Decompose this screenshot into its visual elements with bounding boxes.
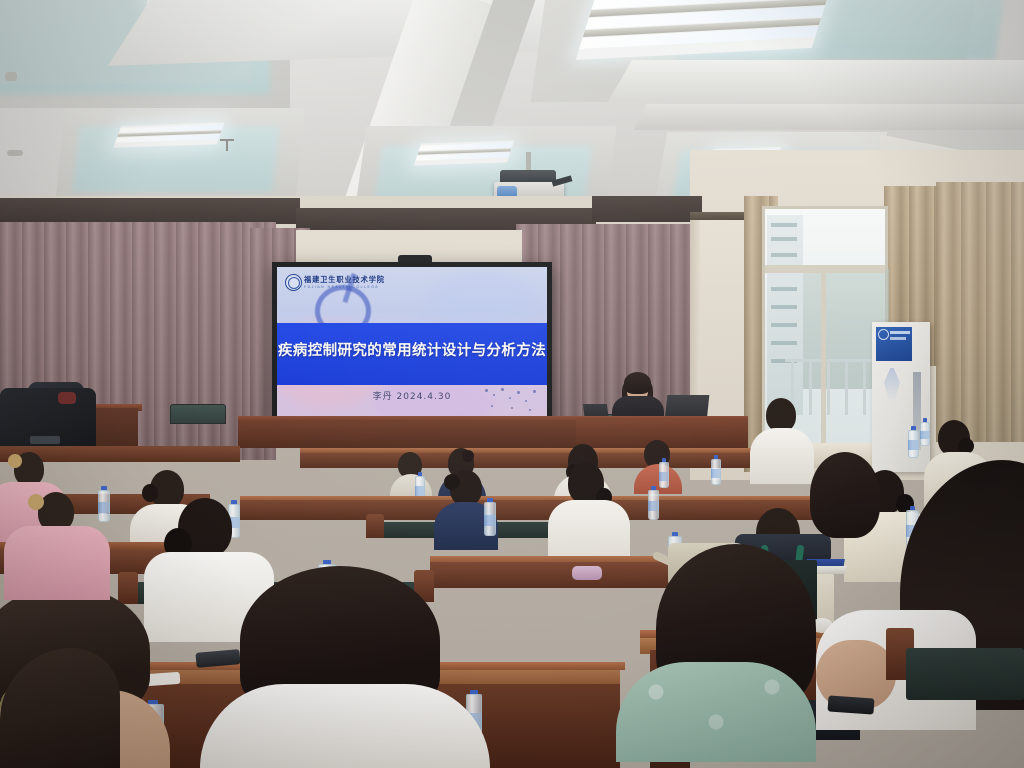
backpack-patch xyxy=(58,392,76,404)
water-bottle-c3[interactable] xyxy=(908,426,919,458)
presentation-display[interactable]: 福建卫生职业技术学院 FUJIAN HEALTH COLLEGE 疾病控制研究的… xyxy=(272,262,552,422)
banner-logo-icon xyxy=(878,329,889,340)
banner-text-line-2 xyxy=(890,337,906,340)
fluorescent-troffer-center xyxy=(414,140,514,165)
ceiling-beam-3 xyxy=(608,60,1024,102)
presentation-slide: 福建卫生职业技术学院 FUJIAN HEALTH COLLEGE 疾病控制研究的… xyxy=(277,267,547,417)
window-mullion-vertical xyxy=(821,265,826,465)
desk-row-a xyxy=(300,452,770,468)
curtain-valance-right xyxy=(592,196,702,222)
water-bottle-a3[interactable] xyxy=(711,455,721,485)
ceiling-speaker-icon xyxy=(5,72,17,81)
backpack-buckle xyxy=(30,436,60,444)
bench-right-fg[interactable] xyxy=(906,648,1024,700)
ceiling-vent-icon xyxy=(7,150,23,156)
desk-row-a-edge xyxy=(300,448,770,453)
slide-institution-name-cn: 福建卫生职业技术学院 xyxy=(304,275,385,285)
water-bottle-a2[interactable] xyxy=(659,458,669,488)
curtain-valance-left xyxy=(0,198,300,224)
ceiling-beam-4 xyxy=(634,104,1024,130)
world-map-graphic xyxy=(481,385,541,415)
window-safety-rail xyxy=(785,359,885,362)
ceiling-rod-left xyxy=(226,141,228,151)
bench-arm-c1 xyxy=(118,572,138,604)
lecture-hall-photo: 福建卫生职业技术学院 FUJIAN HEALTH COLLEGE 疾病控制研究的… xyxy=(0,0,1024,768)
fg-center-shirt xyxy=(200,684,490,768)
window-curtain-far-right xyxy=(936,182,1024,442)
fluorescent-troffer-mid-left xyxy=(113,122,224,148)
fg-teal-blouse xyxy=(616,662,816,762)
bench-arm-b1 xyxy=(366,514,384,538)
ceiling-rod-left-cross xyxy=(220,139,234,141)
smartphone-on-desk-2[interactable] xyxy=(827,695,874,714)
water-bottle-b2[interactable] xyxy=(648,486,659,520)
slide-photo-blur-3 xyxy=(427,273,537,327)
water-bottle-b3[interactable] xyxy=(98,486,110,522)
presenter-hair xyxy=(624,372,651,394)
window-building xyxy=(767,215,803,415)
projector-mount-pole xyxy=(526,152,531,172)
pencil-case[interactable] xyxy=(572,566,602,580)
slide-institution-name-en: FUJIAN HEALTH COLLEGE xyxy=(304,285,379,289)
banner-text-line-1 xyxy=(890,331,910,334)
front-chair-5[interactable] xyxy=(170,404,226,424)
far-right-hair xyxy=(810,452,880,538)
water-bottle-b1[interactable] xyxy=(484,498,496,536)
tissue-on-desk xyxy=(146,672,181,686)
slide-main-title: 疾病控制研究的常用统计设计与分析方法 xyxy=(277,339,547,360)
water-bottle-a4[interactable] xyxy=(920,418,930,446)
college-seal-inner-ring xyxy=(288,277,300,289)
desk-row-b xyxy=(240,500,820,520)
